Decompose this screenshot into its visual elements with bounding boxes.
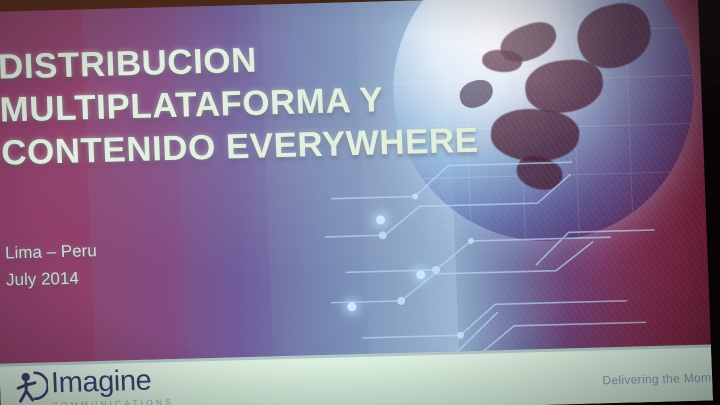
presentation-slide: DISTRIBUCION MULTIPLATAFORMA Y CONTENIDO… <box>0 0 713 405</box>
projected-slide-photo: DISTRIBUCION MULTIPLATAFORMA Y CONTENIDO… <box>0 0 720 405</box>
subtitle-line-date: July 2014 <box>6 264 99 293</box>
subtitle-line-location: Lima – Peru <box>5 237 98 266</box>
footer-tagline: Delivering the Mome <box>602 370 713 387</box>
slide-subtitle: Lima – Peru July 2014 <box>5 237 99 293</box>
circuit-traces-icon <box>322 143 712 363</box>
logo-wordmark: Imagine <box>50 365 173 399</box>
imagine-figure-logo-icon <box>13 368 48 405</box>
imagine-logo: Imagine COMMUNICATIONS <box>13 365 174 405</box>
slide-title: DISTRIBUCION MULTIPLATAFORMA Y CONTENIDO… <box>0 29 602 174</box>
slide-background: DISTRIBUCION MULTIPLATAFORMA Y CONTENIDO… <box>0 0 711 364</box>
